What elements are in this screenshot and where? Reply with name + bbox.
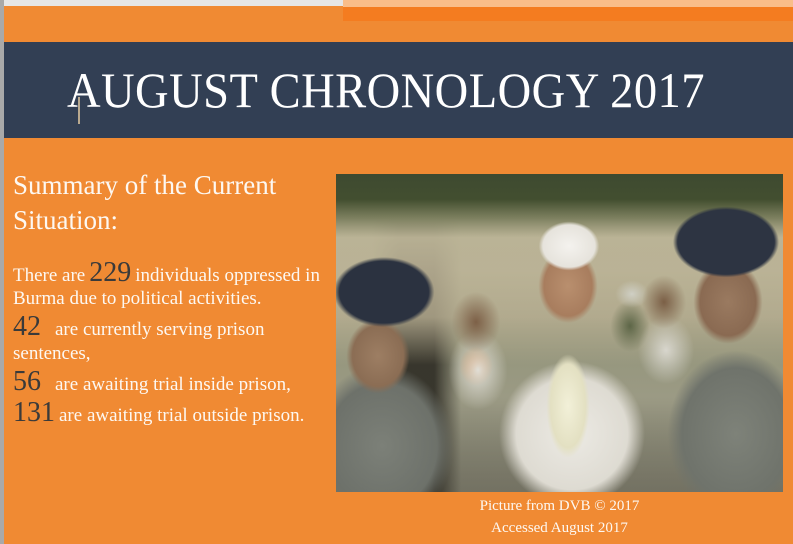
stat-line-awaiting-outside: 131are awaiting trial outside prison. — [13, 399, 333, 427]
text-cursor-caret — [78, 97, 80, 124]
stat-number-awaiting-inside: 56 — [13, 366, 41, 397]
stat-trail-text-serving: are currently serving prison sentences, — [13, 319, 264, 363]
stat-number-total: 229 — [89, 257, 131, 288]
stat-number-serving: 42 — [13, 311, 41, 342]
slide-title-bar: AUGUST CHRONOLOGY 2017 — [0, 42, 793, 138]
top-strip-peach — [343, 0, 793, 7]
top-band-orange-left — [0, 6, 343, 42]
stat-number-awaiting-outside: 131 — [13, 397, 55, 428]
page-left-edge — [0, 0, 4, 544]
presentation-slide: AUGUST CHRONOLOGY 2017 Summary of the Cu… — [0, 0, 793, 544]
stat-trail-text-awaiting-outside: are awaiting trial outside prison. — [59, 405, 304, 426]
slide-title: AUGUST CHRONOLOGY 2017 — [0, 65, 705, 115]
top-band-orange-right — [343, 21, 793, 42]
summary-heading: Summary of the Current Situation: — [13, 168, 323, 237]
stat-line-awaiting-inside: 56are awaiting trial inside prison, — [13, 368, 333, 396]
stat-lead-text: There are — [13, 265, 85, 286]
summary-column: Summary of the Current Situation: There … — [13, 168, 333, 427]
slide-body: Summary of the Current Situation: There … — [0, 138, 793, 544]
photo-image — [336, 174, 783, 492]
stat-line-serving: 42are currently serving prison sentences… — [13, 313, 333, 364]
top-strip-orange-dark — [343, 7, 793, 21]
stat-trail-text-awaiting-inside: are awaiting trial inside prison, — [55, 374, 291, 395]
photo-caption-line-1: Picture from DVB © 2017 — [336, 496, 783, 518]
photo-frame — [336, 174, 783, 492]
photo-caption-line-2: Accessed August 2017 — [336, 518, 783, 540]
stat-line-total: There are229individuals oppressed in Bur… — [13, 259, 333, 310]
photo-caption: Picture from DVB © 2017 Accessed August … — [336, 496, 783, 540]
